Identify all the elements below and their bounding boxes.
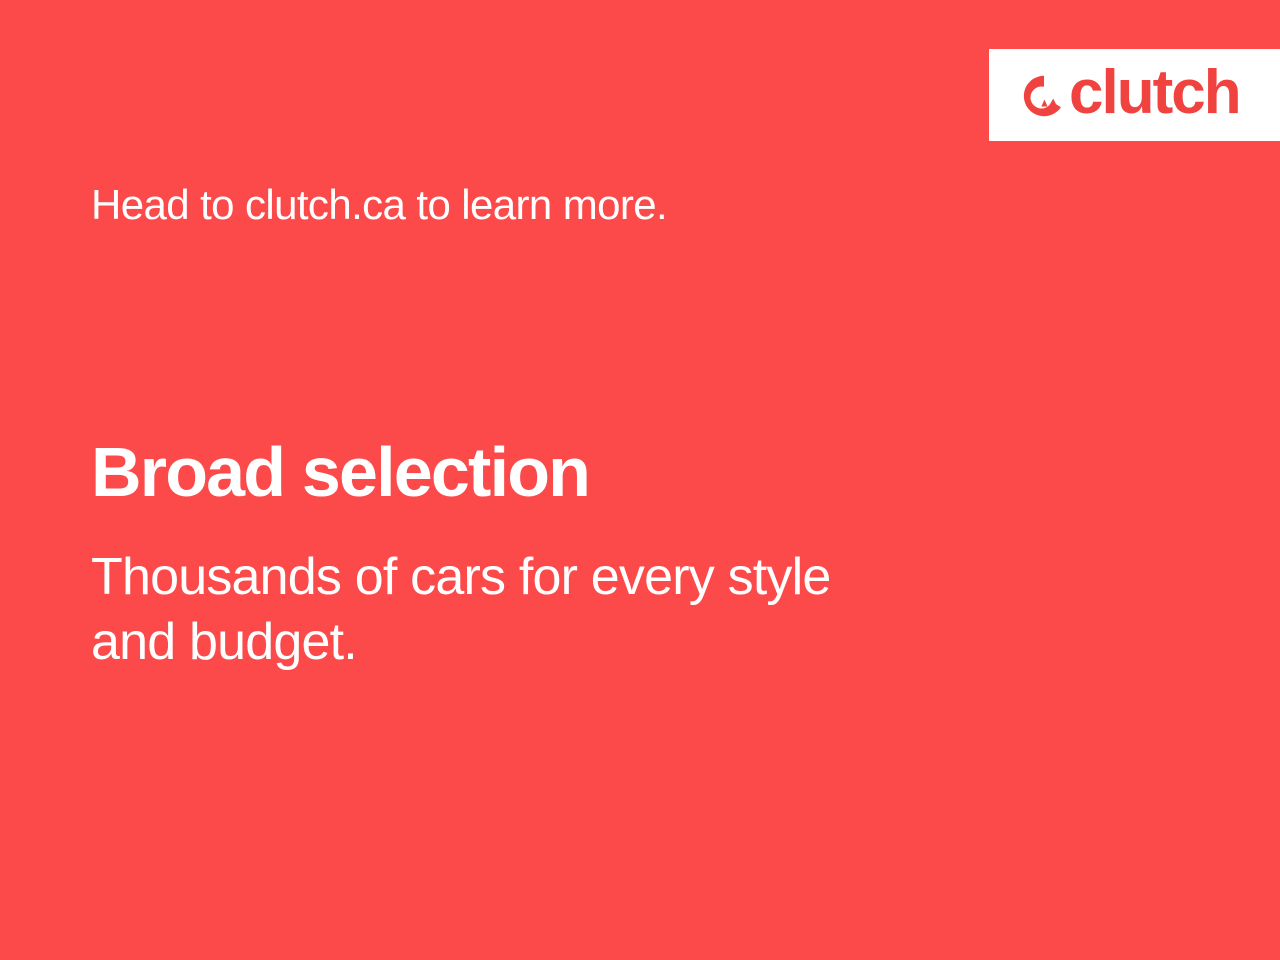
clutch-logo-lockup[interactable]: clutch	[1022, 64, 1240, 126]
subheadline-line-1: Thousands of cars for every style	[91, 545, 1051, 610]
subheadline-text: Thousands of cars for every style and bu…	[91, 545, 1051, 675]
promo-slide: clutch Head to clutch.ca to learn more. …	[0, 0, 1280, 960]
eyebrow-text: Head to clutch.ca to learn more.	[91, 181, 667, 229]
clutch-c-mark-icon	[1022, 74, 1066, 118]
subheadline-line-2: and budget.	[91, 610, 1051, 675]
clutch-wordmark: clutch	[1069, 62, 1240, 124]
brand-logo-plate: clutch	[989, 49, 1280, 141]
headline-text: Broad selection	[91, 437, 589, 507]
